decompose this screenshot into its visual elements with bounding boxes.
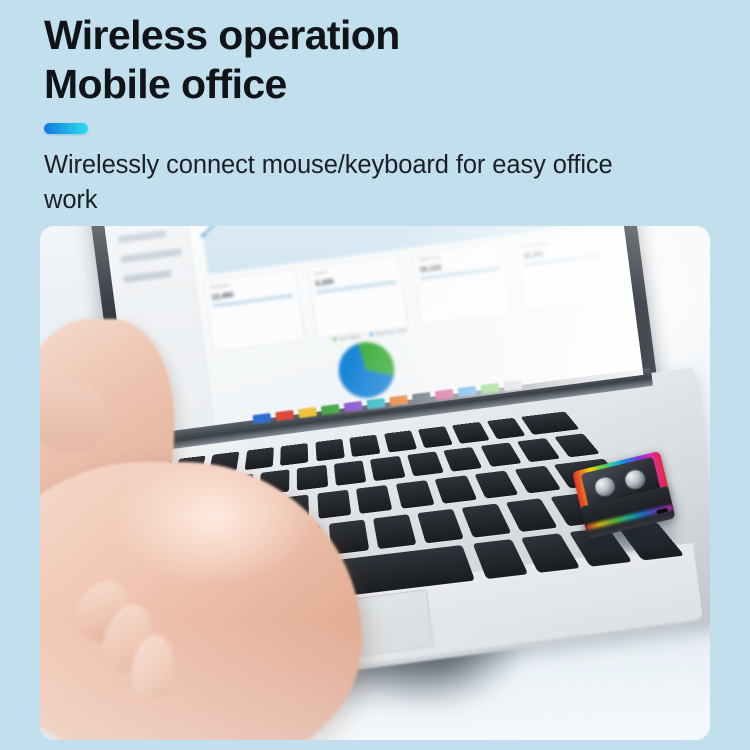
headline-line-1: Wireless operation [44,10,704,61]
subheadline: Wirelessly connect mouse/keyboard for ea… [44,148,654,218]
visitor-pie-chart [334,338,399,403]
sidebar-item-settings[interactable] [123,270,171,283]
dock-icon[interactable] [480,383,500,394]
adapter-right-bud [622,467,647,491]
kpi-card: Users 8,356 [307,255,408,339]
dock-icon[interactable] [275,410,295,421]
dock-icon[interactable] [389,395,409,406]
promo-page: Wireless operation Mobile office Wireles… [0,0,750,750]
accent-bar [44,123,88,134]
dock-icon[interactable] [457,386,477,397]
dock-icon[interactable] [320,404,340,415]
dock-icon[interactable] [343,401,363,412]
dock-icon[interactable] [297,407,317,418]
dock-icon[interactable] [411,392,431,403]
dock-icon[interactable] [434,389,454,400]
dock-icon[interactable] [366,398,386,409]
legend-swatch-returning-visitor [370,333,373,336]
kpi-card: Bounce Rate 41.6% [515,228,616,312]
kpi-card: Sessions 12,480 [203,269,304,353]
legend-swatch-new-visitor [333,338,336,341]
sidebar-item-behavior[interactable] [117,230,165,243]
sidebar-item-conversions[interactable] [120,249,181,264]
hero-photo: Hourly Daily Weekly Monthly [40,226,710,740]
headline-line-2: Mobile office [44,59,704,110]
kpi-card: Pageviews 39,102 [411,242,512,326]
legend-label: New Visitor [338,334,361,342]
dock-icon[interactable] [503,380,523,391]
dock-icon[interactable] [252,413,272,424]
adapter-left-bud [592,475,617,499]
copy-block: Wireless operation Mobile office Wireles… [44,10,704,244]
